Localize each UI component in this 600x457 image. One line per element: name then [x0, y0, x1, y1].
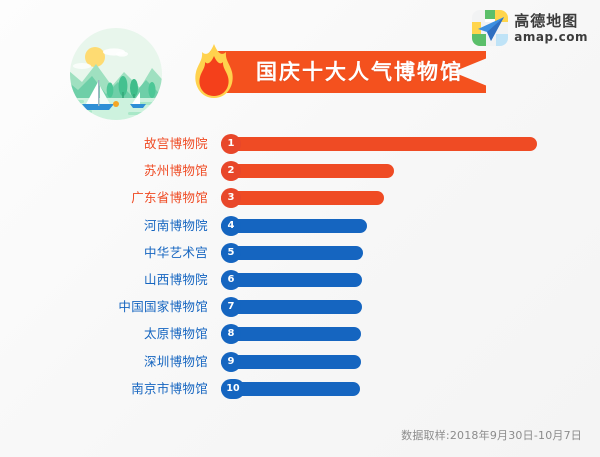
chart-bar [221, 355, 361, 369]
rank-badge: 9 [221, 352, 241, 372]
chart-row-bar-area: 9 [221, 352, 551, 372]
amap-paper-plane-logo-icon [472, 10, 508, 46]
flame-icon [186, 42, 242, 102]
brand-name-cn: 高德地图 [514, 14, 588, 29]
chart-row-label: 中华艺术宫 [0, 243, 208, 263]
chart-bar [221, 164, 394, 178]
banner-text-container: 国庆十大人气博物馆 [210, 51, 486, 93]
chart-row: 深圳博物馆9 [0, 352, 600, 372]
rank-badge: 3 [221, 188, 241, 208]
rank-badge: 5 [221, 243, 241, 263]
chart-bar [221, 246, 363, 260]
ranking-bar-chart: 故宫博物院1苏州博物馆2广东省博物馆3河南博物院4中华艺术宫5山西博物院6中国国… [0, 128, 600, 403]
data-sample-note: 数据取样:2018年9月30日-10月7日 [401, 427, 582, 443]
rank-badge: 4 [221, 216, 241, 236]
chart-row: 山西博物院6 [0, 270, 600, 290]
chart-row-label: 苏州博物馆 [0, 161, 208, 181]
chart-bar [221, 191, 384, 205]
chart-row: 太原博物馆8 [0, 324, 600, 344]
chart-row-bar-area: 8 [221, 324, 551, 344]
chart-bar [221, 273, 362, 287]
brand-text: 高德地图 amap.com [514, 14, 588, 43]
chart-row-label: 故宫博物院 [0, 134, 208, 154]
chart-bar [221, 327, 361, 341]
mountain-lake-scenery-illustration [52, 24, 180, 120]
chart-row-bar-area: 3 [221, 188, 551, 208]
chart-row-label: 太原博物馆 [0, 324, 208, 344]
chart-row: 中国国家博物馆7 [0, 297, 600, 317]
rank-badge: 6 [221, 270, 241, 290]
rank-badge: 10 [221, 379, 245, 399]
chart-row: 故宫博物院1 [0, 134, 600, 154]
chart-row: 中华艺术宫5 [0, 243, 600, 263]
chart-row: 广东省博物馆3 [0, 188, 600, 208]
chart-row-bar-area: 6 [221, 270, 551, 290]
rank-badge: 7 [221, 297, 241, 317]
chart-row-bar-area: 4 [221, 216, 551, 236]
chart-row: 南京市博物馆10 [0, 379, 600, 399]
brand-logo: 高德地图 amap.com [472, 8, 588, 48]
chart-row-label: 中国国家博物馆 [0, 297, 208, 317]
infographic-page: 国庆十大人气博物馆 [0, 0, 600, 457]
chart-row-bar-area: 1 [221, 134, 551, 154]
banner: 国庆十大人气博物馆 [186, 42, 486, 102]
chart-row-label: 深圳博物馆 [0, 352, 208, 372]
chart-row-bar-area: 10 [221, 379, 551, 399]
brand-name-en: amap.com [514, 31, 588, 43]
chart-row: 河南博物院4 [0, 216, 600, 236]
chart-row-bar-area: 7 [221, 297, 551, 317]
rank-badge: 2 [221, 161, 241, 181]
chart-row: 苏州博物馆2 [0, 161, 600, 181]
chart-row-label: 山西博物院 [0, 270, 208, 290]
chart-row-bar-area: 2 [221, 161, 551, 181]
chart-row-label: 南京市博物馆 [0, 379, 208, 399]
chart-row-bar-area: 5 [221, 243, 551, 263]
chart-bar [221, 219, 367, 233]
header: 国庆十大人气博物馆 [0, 0, 600, 125]
rank-badge: 1 [221, 134, 241, 154]
chart-bar [221, 137, 537, 151]
chart-row-label: 河南博物院 [0, 216, 208, 236]
rank-badge: 8 [221, 324, 241, 344]
chart-row-label: 广东省博物馆 [0, 188, 208, 208]
chart-bar [221, 300, 362, 314]
page-title: 国庆十大人气博物馆 [256, 51, 463, 93]
